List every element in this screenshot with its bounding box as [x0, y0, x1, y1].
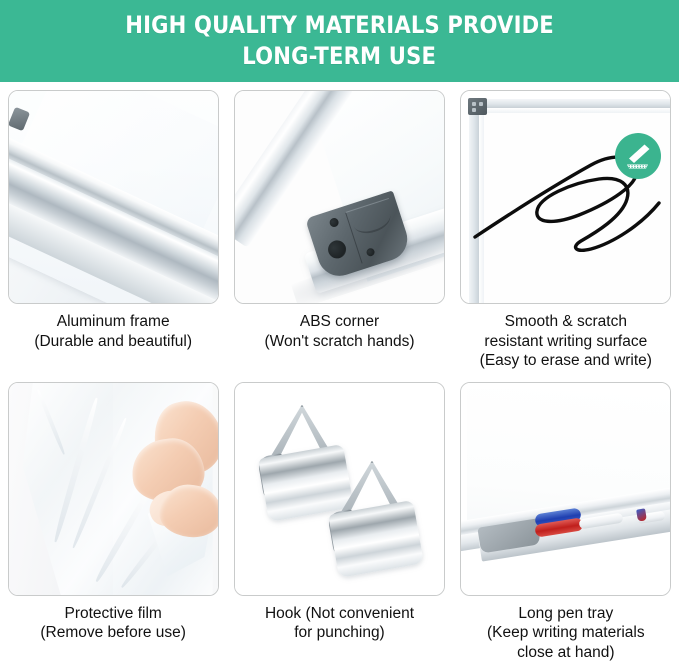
- bracket-stud: [472, 102, 476, 106]
- caption-line: for punching): [232, 623, 446, 643]
- aluminum-frame-photo: [9, 91, 218, 303]
- feature-caption-abs-corner: ABS corner (Won't scratch hands): [232, 312, 446, 351]
- feature-cell-long-pen-tray: Long pen tray (Keep writing materials cl…: [453, 374, 679, 665]
- header-banner: HIGH QUALITY MATERIALS PROVIDE LONG-TERM…: [0, 0, 679, 82]
- caption-line: (Won't scratch hands): [232, 332, 446, 352]
- feature-cell-hook: Hook (Not convenient for punching): [226, 374, 452, 665]
- feature-image-protective-film: [8, 382, 219, 596]
- hook-shape-2: [333, 461, 433, 571]
- bracket-stud: [472, 108, 476, 112]
- writing-surface-photo: [461, 91, 670, 303]
- corner-screw-hole-small-1: [328, 217, 339, 228]
- caption-line: ABS corner: [232, 312, 446, 332]
- feature-image-writing-surface: [460, 90, 671, 304]
- feature-caption-hook: Hook (Not convenient for punching): [232, 604, 446, 643]
- board-top-rail-shape: [469, 99, 670, 108]
- status-badge: [615, 133, 661, 179]
- feature-image-abs-corner: [234, 90, 445, 304]
- caption-line: (Remove before use): [6, 623, 220, 643]
- feature-caption-long-pen-tray: Long pen tray (Keep writing materials cl…: [459, 604, 673, 663]
- caption-line: Aluminum frame: [6, 312, 220, 332]
- feature-cell-abs-corner: ABS corner (Won't scratch hands): [226, 82, 452, 374]
- header-title-line-2: LONG-TERM USE: [243, 41, 437, 72]
- header-title-line-1: HIGH QUALITY MATERIALS PROVIDE: [125, 10, 554, 41]
- pen-tray-photo: [461, 383, 670, 595]
- feature-cell-aluminum-frame: Aluminum frame (Durable and beautiful): [0, 82, 226, 374]
- caption-line: Hook (Not convenient: [232, 604, 446, 624]
- feature-caption-protective-film: Protective film (Remove before use): [6, 604, 220, 643]
- bracket-stud: [479, 102, 483, 106]
- caption-line: (Keep writing materials: [459, 623, 673, 643]
- caption-line: (Durable and beautiful): [6, 332, 220, 352]
- hooks-photo: [235, 383, 444, 595]
- board-corner-bracket-shape: [468, 98, 487, 115]
- feature-caption-writing-surface: Smooth & scratch resistant writing surfa…: [459, 312, 673, 371]
- caption-line: Smooth & scratch: [459, 312, 673, 332]
- hand-shape: [124, 399, 219, 549]
- feature-caption-aluminum-frame: Aluminum frame (Durable and beautiful): [6, 312, 220, 351]
- abs-corner-photo: [235, 91, 444, 303]
- caption-line: Long pen tray: [459, 604, 673, 624]
- product-feature-infographic: HIGH QUALITY MATERIALS PROVIDE LONG-TERM…: [0, 0, 679, 665]
- feature-cell-writing-surface: Smooth & scratch resistant writing surfa…: [453, 82, 679, 374]
- caption-line: close at hand): [459, 643, 673, 663]
- eraser-icon: [621, 139, 655, 173]
- corner-screw-hole-large: [326, 238, 349, 261]
- feature-cell-protective-film: Protective film (Remove before use): [0, 374, 226, 665]
- protective-film-photo: [9, 383, 218, 595]
- caption-line: (Easy to erase and write): [459, 351, 673, 371]
- feature-image-long-pen-tray: [460, 382, 671, 596]
- feature-image-hook: [234, 382, 445, 596]
- caption-line: Protective film: [6, 604, 220, 624]
- feature-grid: Aluminum frame (Durable and beautiful): [0, 82, 679, 665]
- caption-line: resistant writing surface: [459, 332, 673, 352]
- feature-image-aluminum-frame: [8, 90, 219, 304]
